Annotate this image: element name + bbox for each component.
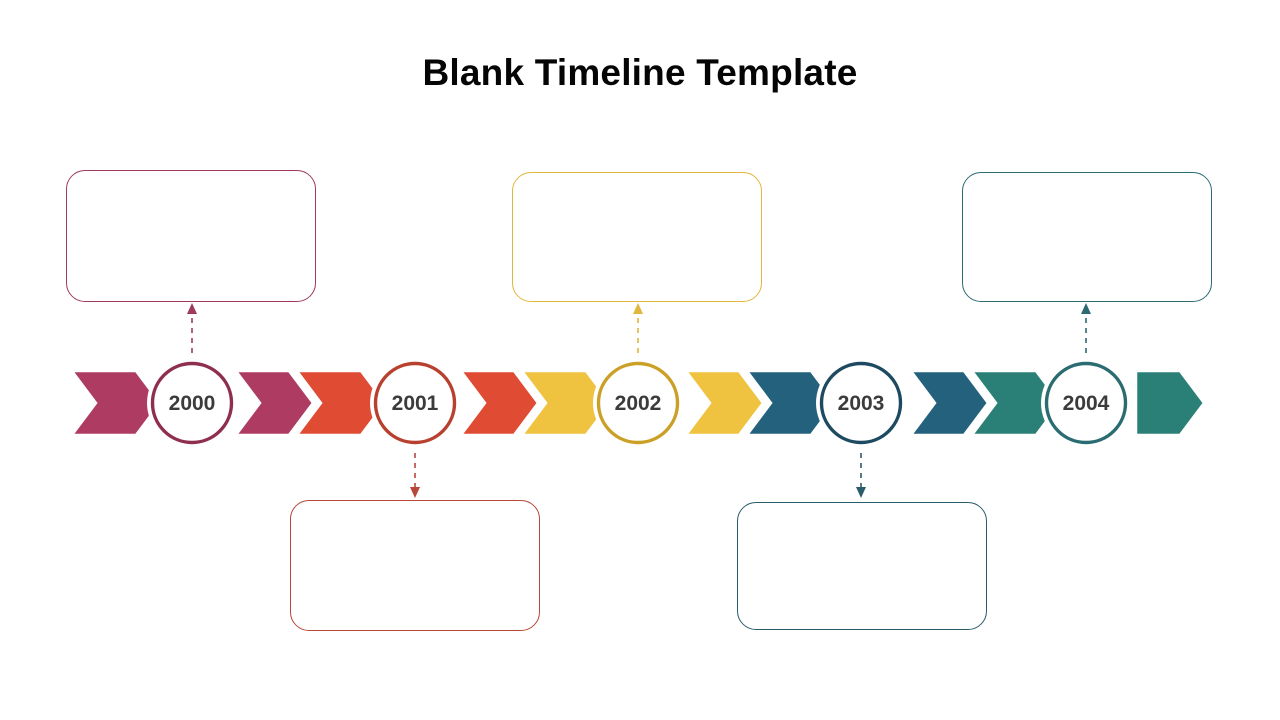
page-title: Blank Timeline Template [0,52,1280,94]
content-box-2000[interactable] [66,170,316,302]
content-box-2001-text [291,501,539,521]
timeline-segment-6[interactable] [686,371,763,435]
timeline-segment-4[interactable] [461,371,538,435]
year-label-2001: 2001 [372,393,458,414]
year-label-2004: 2004 [1043,393,1129,414]
content-box-2002-text [513,173,761,193]
year-label-2000: 2000 [149,393,235,414]
timeline-segment-2[interactable] [236,371,313,435]
timeline-segment-8[interactable] [911,371,988,435]
connector-arrowhead-2001 [410,487,420,498]
content-box-2001[interactable] [290,500,540,631]
year-label-2002: 2002 [595,393,681,414]
connector-arrowhead-2003 [856,487,866,498]
content-box-2002[interactable] [512,172,762,302]
timeline-segment-10[interactable] [1136,371,1204,435]
content-box-2003-text [738,503,986,523]
year-label-2003: 2003 [818,393,904,414]
content-box-2000-text [67,171,315,191]
timeline-segment-1[interactable] [72,371,160,435]
content-box-2004-text [963,173,1211,193]
content-box-2004[interactable] [962,172,1212,302]
timeline-graphic [0,0,1280,720]
content-box-2003[interactable] [737,502,987,630]
timeline-slide: Blank Timeline Template [0,0,1280,720]
